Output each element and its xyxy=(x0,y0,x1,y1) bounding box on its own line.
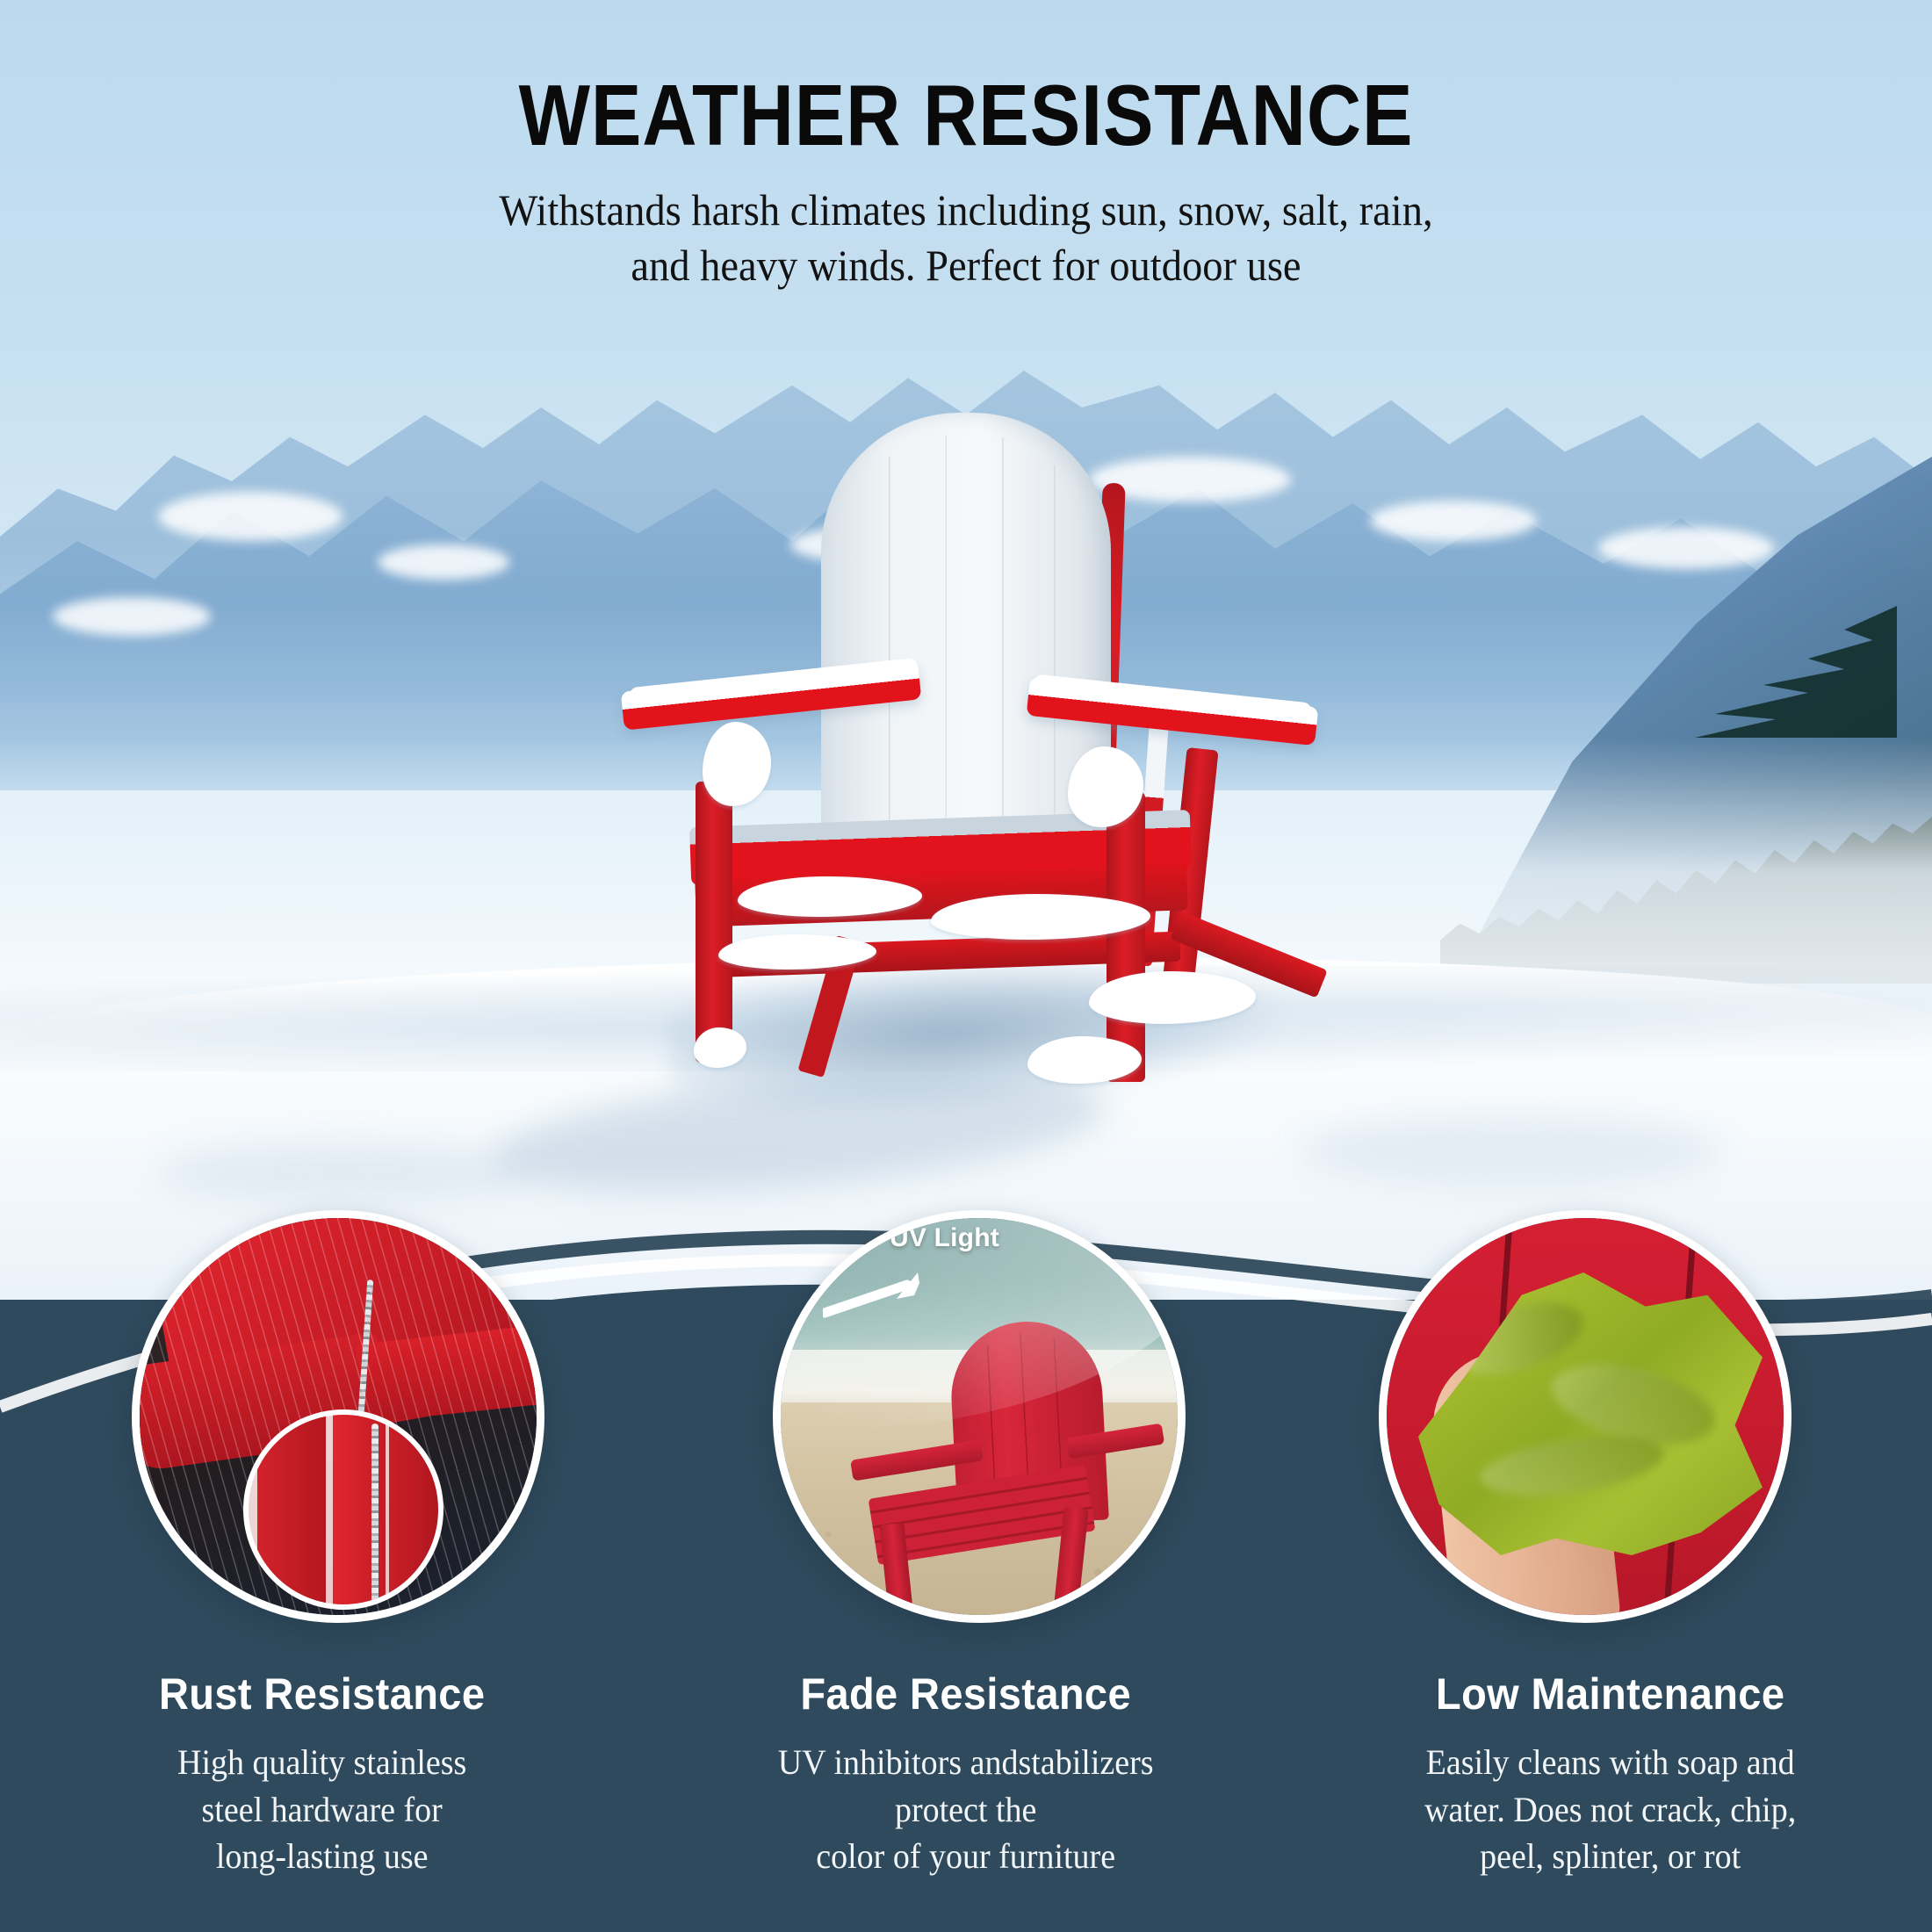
feature-desc-line: protect the xyxy=(694,1786,1239,1834)
uv-light-label: UV Light xyxy=(890,1223,999,1253)
feature-desc-line: long-lasting use xyxy=(49,1833,595,1880)
cloth-fold xyxy=(1477,1427,1667,1505)
feature-desc-line: steel hardware for xyxy=(49,1786,595,1834)
feature-photo-fade-resistance: UV Light xyxy=(773,1210,1186,1623)
feature-column-low-maintenance: Low Maintenance Easily cleans with soap … xyxy=(1288,1669,1932,1880)
hardware-detail-inset xyxy=(243,1409,443,1610)
feature-desc-line: High quality stainless xyxy=(49,1739,595,1786)
feature-desc-line: UV inhibitors andstabilizers xyxy=(694,1739,1239,1786)
feature-title: Rust Resistance xyxy=(53,1669,592,1719)
feature-description: High quality stainless steel hardware fo… xyxy=(49,1739,595,1880)
feature-title: Low Maintenance xyxy=(1340,1669,1879,1719)
feature-text-row: Rust Resistance High quality stainless s… xyxy=(0,1669,1932,1880)
slat xyxy=(257,1415,326,1610)
feature-photo-group: UV Light xyxy=(0,0,1932,1932)
feature-title: Fade Resistance xyxy=(696,1669,1236,1719)
feature-photo-rust-resistance xyxy=(132,1210,544,1623)
uv-arrow-icon xyxy=(823,1265,939,1323)
feature-desc-line: color of your furniture xyxy=(694,1833,1239,1880)
feature-photo-low-maintenance xyxy=(1379,1210,1791,1623)
feature-desc-line: peel, splinter, or rot xyxy=(1337,1833,1883,1880)
stainless-chain-closeup xyxy=(371,1424,378,1608)
feature-column-fade-resistance: Fade Resistance UV inhibitors andstabili… xyxy=(644,1669,1287,1880)
feature-description: Easily cleans with soap and water. Does … xyxy=(1337,1739,1883,1880)
slat xyxy=(389,1415,443,1610)
feature-column-rust-resistance: Rust Resistance High quality stainless s… xyxy=(0,1669,644,1880)
infographic-canvas: WEATHER RESISTANCE Withstands harsh clim… xyxy=(0,0,1932,1932)
feature-desc-line: Easily cleans with soap and xyxy=(1337,1739,1883,1786)
feature-desc-line: water. Does not crack, chip, xyxy=(1337,1786,1883,1834)
feature-description: UV inhibitors andstabilizers protect the… xyxy=(694,1739,1239,1880)
